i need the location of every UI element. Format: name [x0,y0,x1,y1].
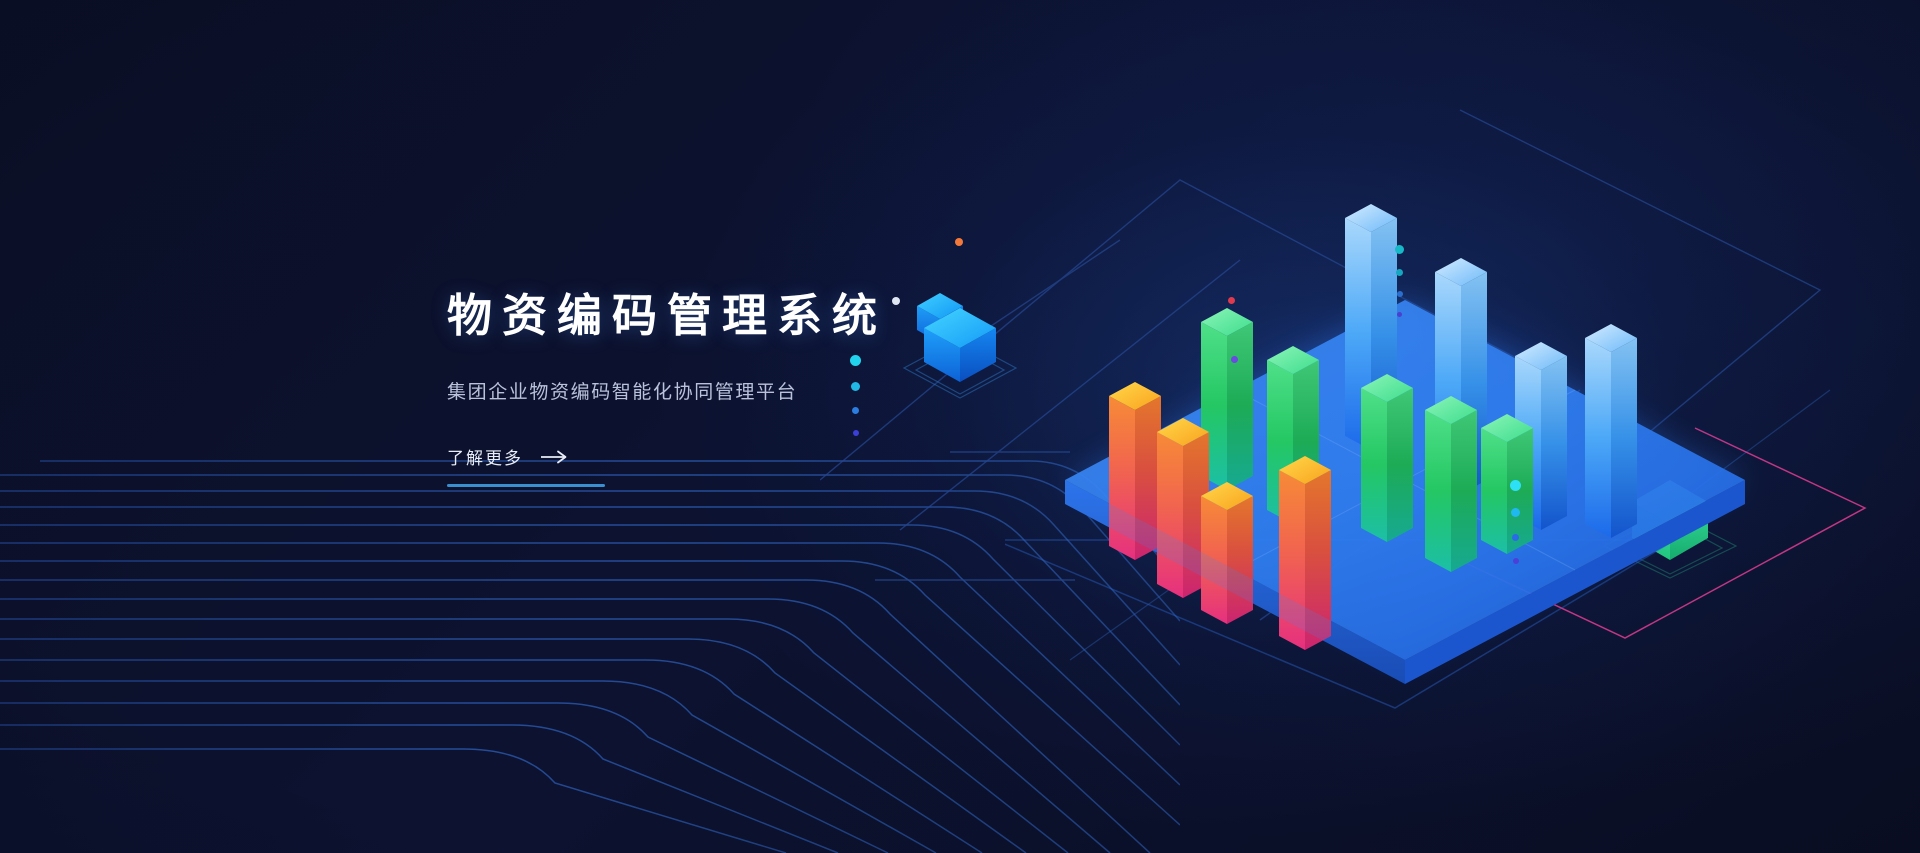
page-title: 物资编码管理系统 [447,289,887,343]
arrow-right-icon [540,449,568,465]
bar-b10 [1425,396,1477,572]
learn-more-underline [447,484,605,487]
hero-banner: 物资编码管理系统 集团企业物资编码智能化协同管理平台 [0,0,1920,853]
dot-violet [1231,356,1238,363]
bar-b3 [1201,482,1253,624]
dot-red [1228,297,1235,304]
floating-blue-cube-icon [900,290,1020,400]
dot-cluster-upper [1395,245,1404,317]
isometric-chart-illustration [1005,160,1905,720]
bar-b11 [1481,414,1533,554]
dot-cluster-left [850,355,861,436]
bar-b8 [1361,374,1413,542]
learn-more-button[interactable]: 了解更多 [447,444,605,487]
bar-chart-3d [1005,160,1905,720]
dot-cluster-right [1510,480,1521,564]
bar-b13 [1585,324,1637,538]
dot-white [892,297,900,305]
learn-more-row: 了解更多 [447,444,605,469]
dot-orange [955,238,963,246]
learn-more-label: 了解更多 [447,444,523,469]
